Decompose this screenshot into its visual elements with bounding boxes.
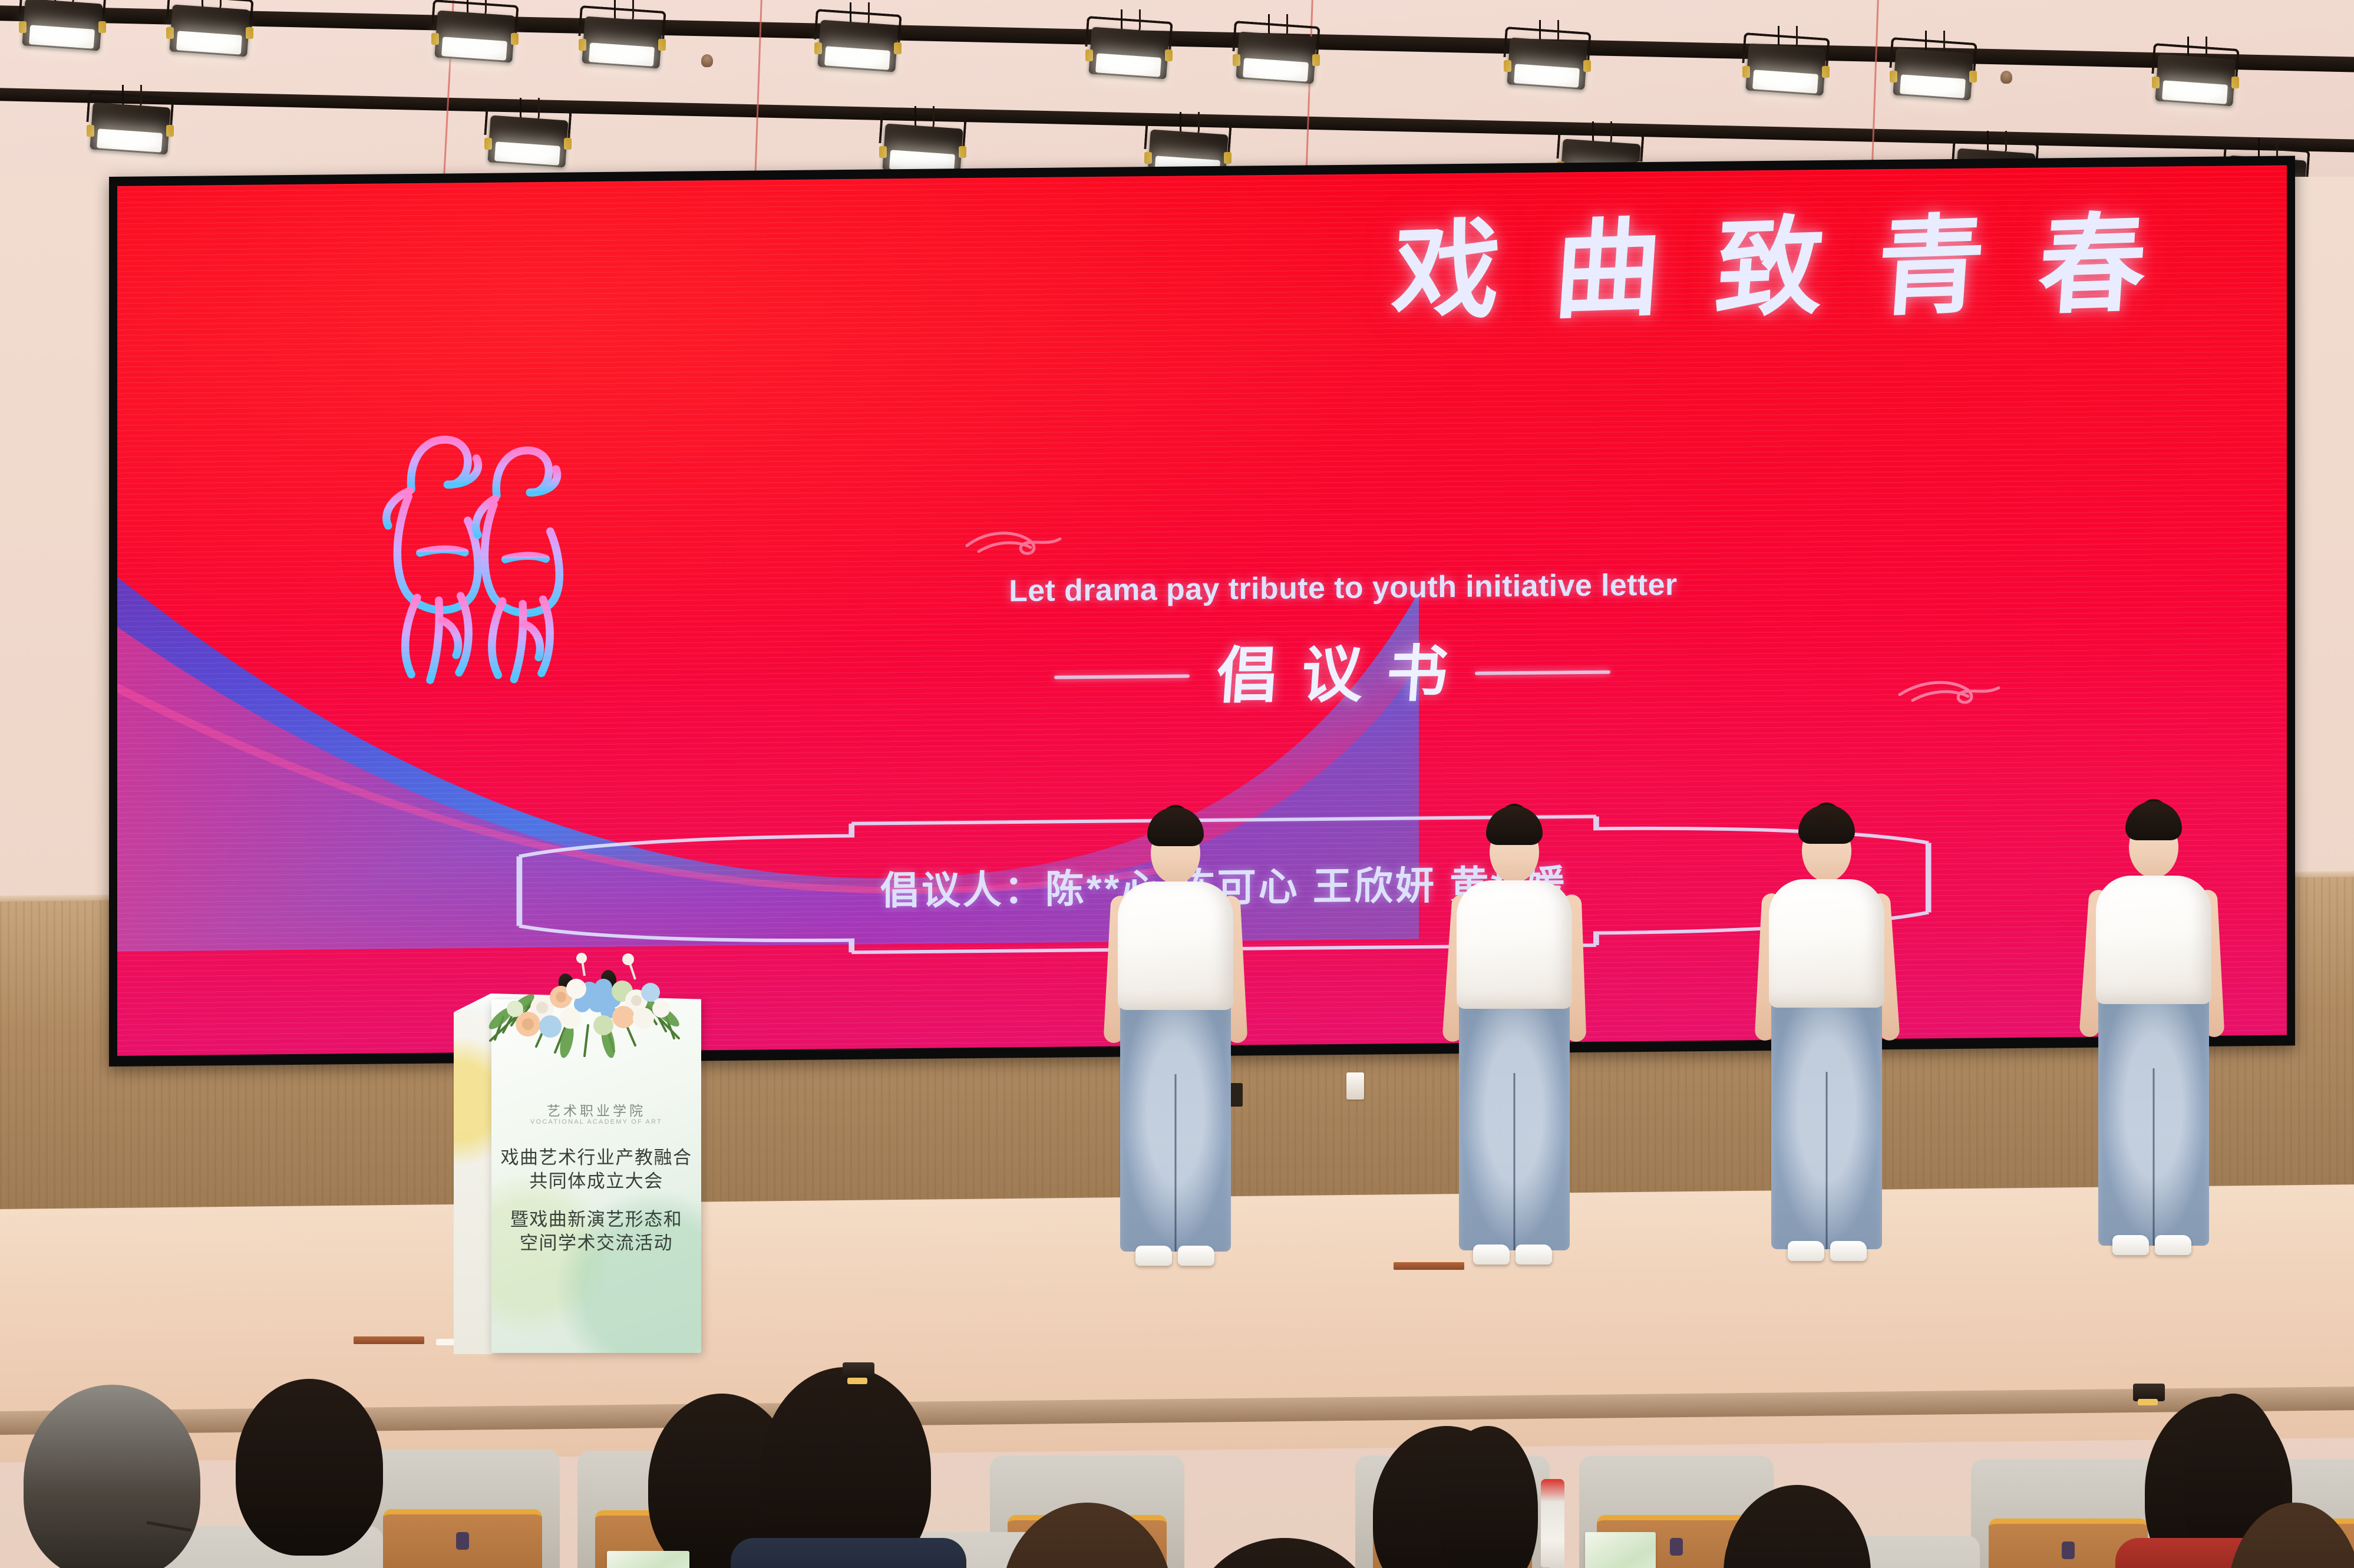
wall-outlet — [1346, 1072, 1364, 1100]
sneaker — [1788, 1241, 1824, 1261]
title-char-4: 青 — [1874, 210, 1988, 321]
podium-line-3: 暨戏曲新演艺形态和 — [491, 1208, 701, 1233]
sneaker — [1516, 1245, 1552, 1265]
wall-sidelight-icon — [843, 1362, 874, 1380]
kicker-char-3: 书 — [1384, 643, 1450, 705]
screen-title: 戏 曲 致 青 春 — [280, 210, 2211, 335]
podium-line-4: 空间学术交流活动 — [491, 1232, 701, 1256]
audience-member — [24, 1385, 200, 1568]
floral-arrangement — [467, 952, 702, 1064]
performer-2 — [1438, 806, 1591, 1277]
stage-light — [489, 101, 567, 167]
podium-line-1: 戏曲艺术行业产教融合 — [491, 1146, 701, 1171]
podium-school-name-en: VOCATIONAL ACADEMY OF ART — [491, 1118, 701, 1125]
auditorium-scene: 戏 曲 致 青 春 Let drama pay tribute to youth… — [0, 0, 2354, 1568]
kicker-char-2: 议 — [1299, 644, 1365, 706]
hair — [2125, 801, 2182, 840]
auditorium-seat[interactable] — [365, 1450, 560, 1568]
performer-3 — [1750, 805, 1903, 1276]
water-bottle — [1541, 1479, 1564, 1567]
stage-light — [436, 0, 514, 62]
hair — [1147, 807, 1204, 846]
stage-light — [2157, 40, 2234, 106]
sneaker — [2112, 1235, 2149, 1255]
stage-light — [1894, 34, 1972, 100]
audience-shoulders — [731, 1538, 966, 1568]
lighting-truss-bar — [0, 5, 2354, 74]
sprinkler-head-icon — [701, 54, 713, 67]
white-tshirt — [1457, 880, 1572, 1009]
performer-1 — [1099, 807, 1252, 1279]
podium-school-name-cn: 艺术职业学院 — [491, 1100, 701, 1120]
stage-light — [1237, 18, 1315, 84]
audience-member — [236, 1379, 383, 1556]
title-char-3: 致 — [1712, 212, 1827, 323]
stage-light — [1508, 24, 1586, 90]
blue-jeans — [1771, 996, 1882, 1249]
stage-light — [1747, 29, 1825, 95]
hair — [1798, 805, 1855, 844]
title-char-1: 戏 — [1389, 215, 1504, 326]
blue-jeans — [1459, 997, 1570, 1250]
hair — [1486, 806, 1543, 845]
sneaker — [1830, 1241, 1867, 1261]
sneaker — [1178, 1246, 1214, 1266]
wall-sidelight-icon — [2133, 1384, 2165, 1401]
sneaker — [1135, 1246, 1172, 1266]
podium-line-2: 共同体成立大会 — [491, 1170, 701, 1194]
stage-light — [171, 0, 249, 57]
white-tshirt — [1118, 882, 1233, 1010]
rule-left — [1054, 674, 1190, 679]
audience-area — [0, 1279, 2354, 1568]
kicker-char-1: 倡 — [1214, 645, 1280, 707]
stage-light — [583, 2, 661, 68]
cloud-swirl-icon — [963, 525, 1069, 559]
sneaker — [2155, 1235, 2191, 1255]
stage-light — [819, 6, 897, 72]
sprinkler-head-icon — [2000, 71, 2012, 84]
stage-light — [24, 0, 101, 51]
sneaker — [1473, 1245, 1510, 1265]
program-booklet — [607, 1551, 689, 1568]
audience-member — [1190, 1538, 1379, 1568]
title-char-5: 春 — [2035, 209, 2149, 320]
stage-light — [884, 110, 962, 176]
title-char-2: 曲 — [1551, 214, 1665, 325]
white-tshirt — [1769, 879, 1884, 1008]
screen-kicker: 倡 议 书 — [1217, 643, 1448, 707]
blue-jeans — [1120, 998, 1231, 1252]
blue-jeans — [2098, 992, 2209, 1246]
program-booklet — [1585, 1532, 1656, 1568]
stage-light — [91, 88, 169, 154]
stage-light — [1090, 13, 1168, 79]
performer-4 — [2077, 801, 2230, 1273]
rule-right — [1475, 671, 1610, 675]
white-tshirt — [2096, 876, 2211, 1004]
